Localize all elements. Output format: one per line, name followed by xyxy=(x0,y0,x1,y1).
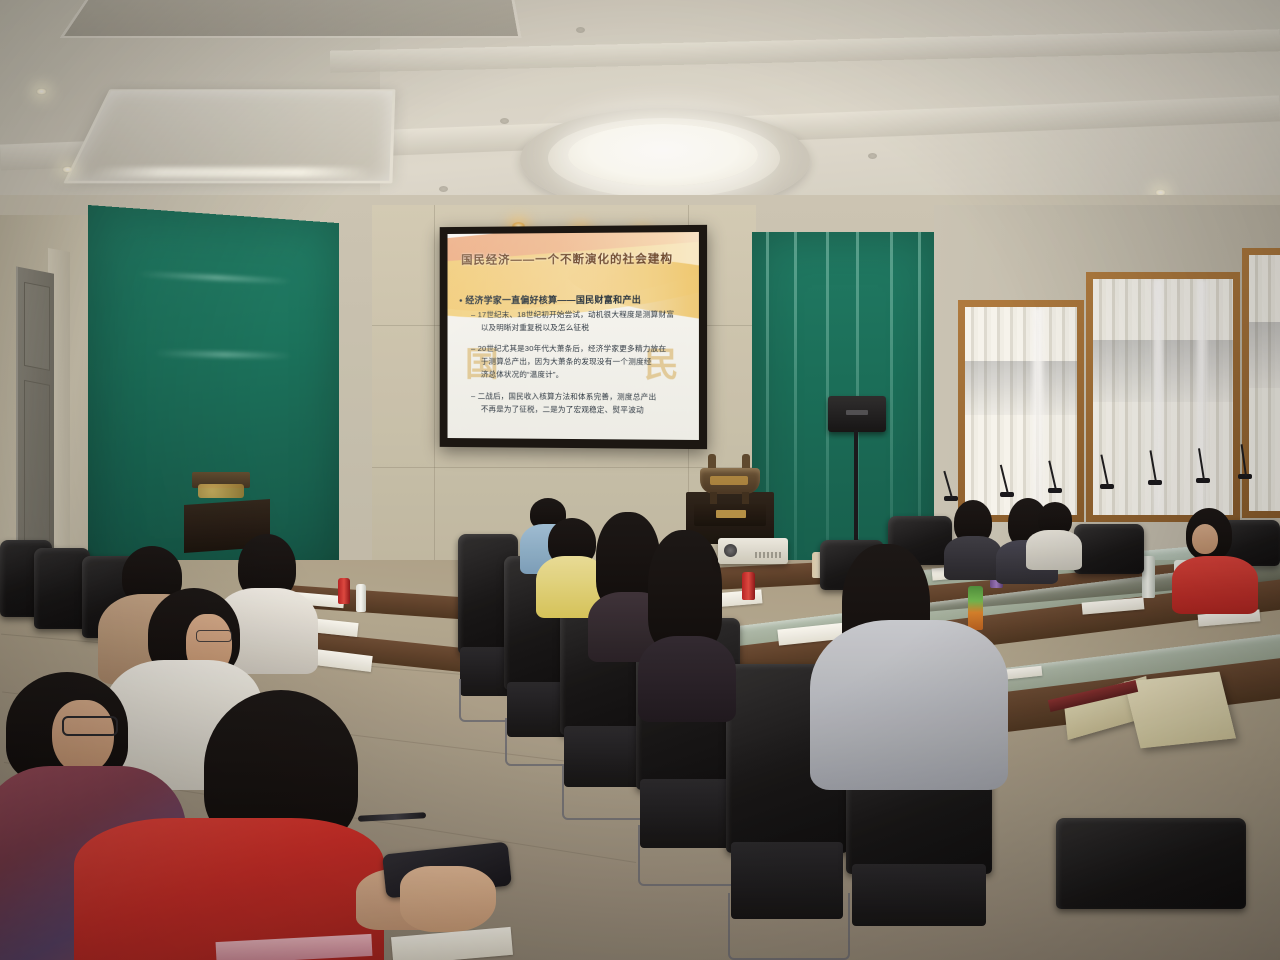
attendee-body xyxy=(1172,556,1258,614)
chair[interactable] xyxy=(1056,818,1246,960)
attendee-face xyxy=(52,700,114,774)
glasses-icon xyxy=(196,630,232,642)
ornament-nameplate xyxy=(716,510,746,518)
window-1 xyxy=(958,300,1084,522)
red-thermos xyxy=(338,578,350,604)
slide-sub-1-line-1: – 17世纪末、18世纪初开始尝试，动机很大程度是测算财富 xyxy=(471,309,683,321)
blind-shadow xyxy=(965,361,1077,415)
projector-vent xyxy=(755,552,781,558)
bronze-ornament-left xyxy=(192,472,250,506)
projector-lens-icon xyxy=(724,544,737,557)
sprinkler-icon xyxy=(500,118,509,124)
slide-sub-1-line-2: 以及明晰对重复税以及怎么征税 xyxy=(481,322,693,334)
attendee-body xyxy=(1026,530,1082,570)
speaker-stand-pole xyxy=(854,430,858,550)
chair[interactable] xyxy=(1074,524,1144,602)
slide-sub-2-line-2: 于测算总产出，因为大萧条的发现没有一个测度经 xyxy=(481,356,693,368)
attendee-face xyxy=(1192,524,1218,554)
projector xyxy=(718,538,788,564)
slide-sub-3-line-1: – 二战后，国民收入核算方法和体系完善，测度总产出 xyxy=(471,391,683,404)
bronze-ding-vessel xyxy=(694,452,766,508)
blind-shadow xyxy=(1093,340,1233,401)
sprinkler-icon xyxy=(576,27,585,33)
speaker-cabinet xyxy=(828,396,886,432)
wall-tile-seam xyxy=(434,205,435,605)
slide-surface: 国 民 国民经济——一个不断演化的社会建构 • 经济学家一直偏好核算——国民财富… xyxy=(448,232,699,440)
blind-highlight xyxy=(1033,307,1043,515)
attendee-body xyxy=(638,636,736,722)
conference-room-photo: 国 民 国民经济——一个不断演化的社会建构 • 经济学家一直偏好核算——国民财富… xyxy=(0,0,1280,960)
blind-shadow xyxy=(1249,322,1280,389)
sprinkler-icon xyxy=(439,186,448,192)
downlight-icon xyxy=(36,88,47,95)
attendee-body xyxy=(944,536,1002,580)
glasses-icon xyxy=(62,716,118,736)
slide-sub-2-line-1: – 20世纪尤其是30年代大萧条后，经济学家更多精力放在 xyxy=(471,343,683,355)
slide-bullet-1: • 经济学家一直偏好核算——国民财富和产出 xyxy=(459,293,691,307)
ceiling-coffer-upper xyxy=(60,0,522,38)
side-door[interactable] xyxy=(16,266,54,573)
green-tea-bottle xyxy=(968,586,983,630)
water-bottle xyxy=(356,584,366,612)
slide-sub-3-line-2: 不再是为了征税，二是为了宏观稳定、熨平波动 xyxy=(481,404,693,417)
sprinkler-icon xyxy=(868,153,877,159)
downlight-icon xyxy=(62,166,73,173)
attendee-body xyxy=(810,620,1008,790)
ceiling-dome-light xyxy=(568,124,758,186)
open-book xyxy=(1124,672,1236,749)
red-thermos xyxy=(742,572,755,600)
slide-sub-2-line-3: 济总体状况的“温度计”。 xyxy=(481,369,693,381)
slide-title: 国民经济——一个不断演化的社会建构 xyxy=(461,250,689,267)
projection-screen: 国 民 国民经济——一个不断演化的社会建构 • 经济学家一直偏好核算——国民财富… xyxy=(440,225,707,449)
attendee-head xyxy=(648,530,722,650)
ceiling-coffer-cove xyxy=(63,89,395,183)
attendee-hand xyxy=(400,866,496,932)
